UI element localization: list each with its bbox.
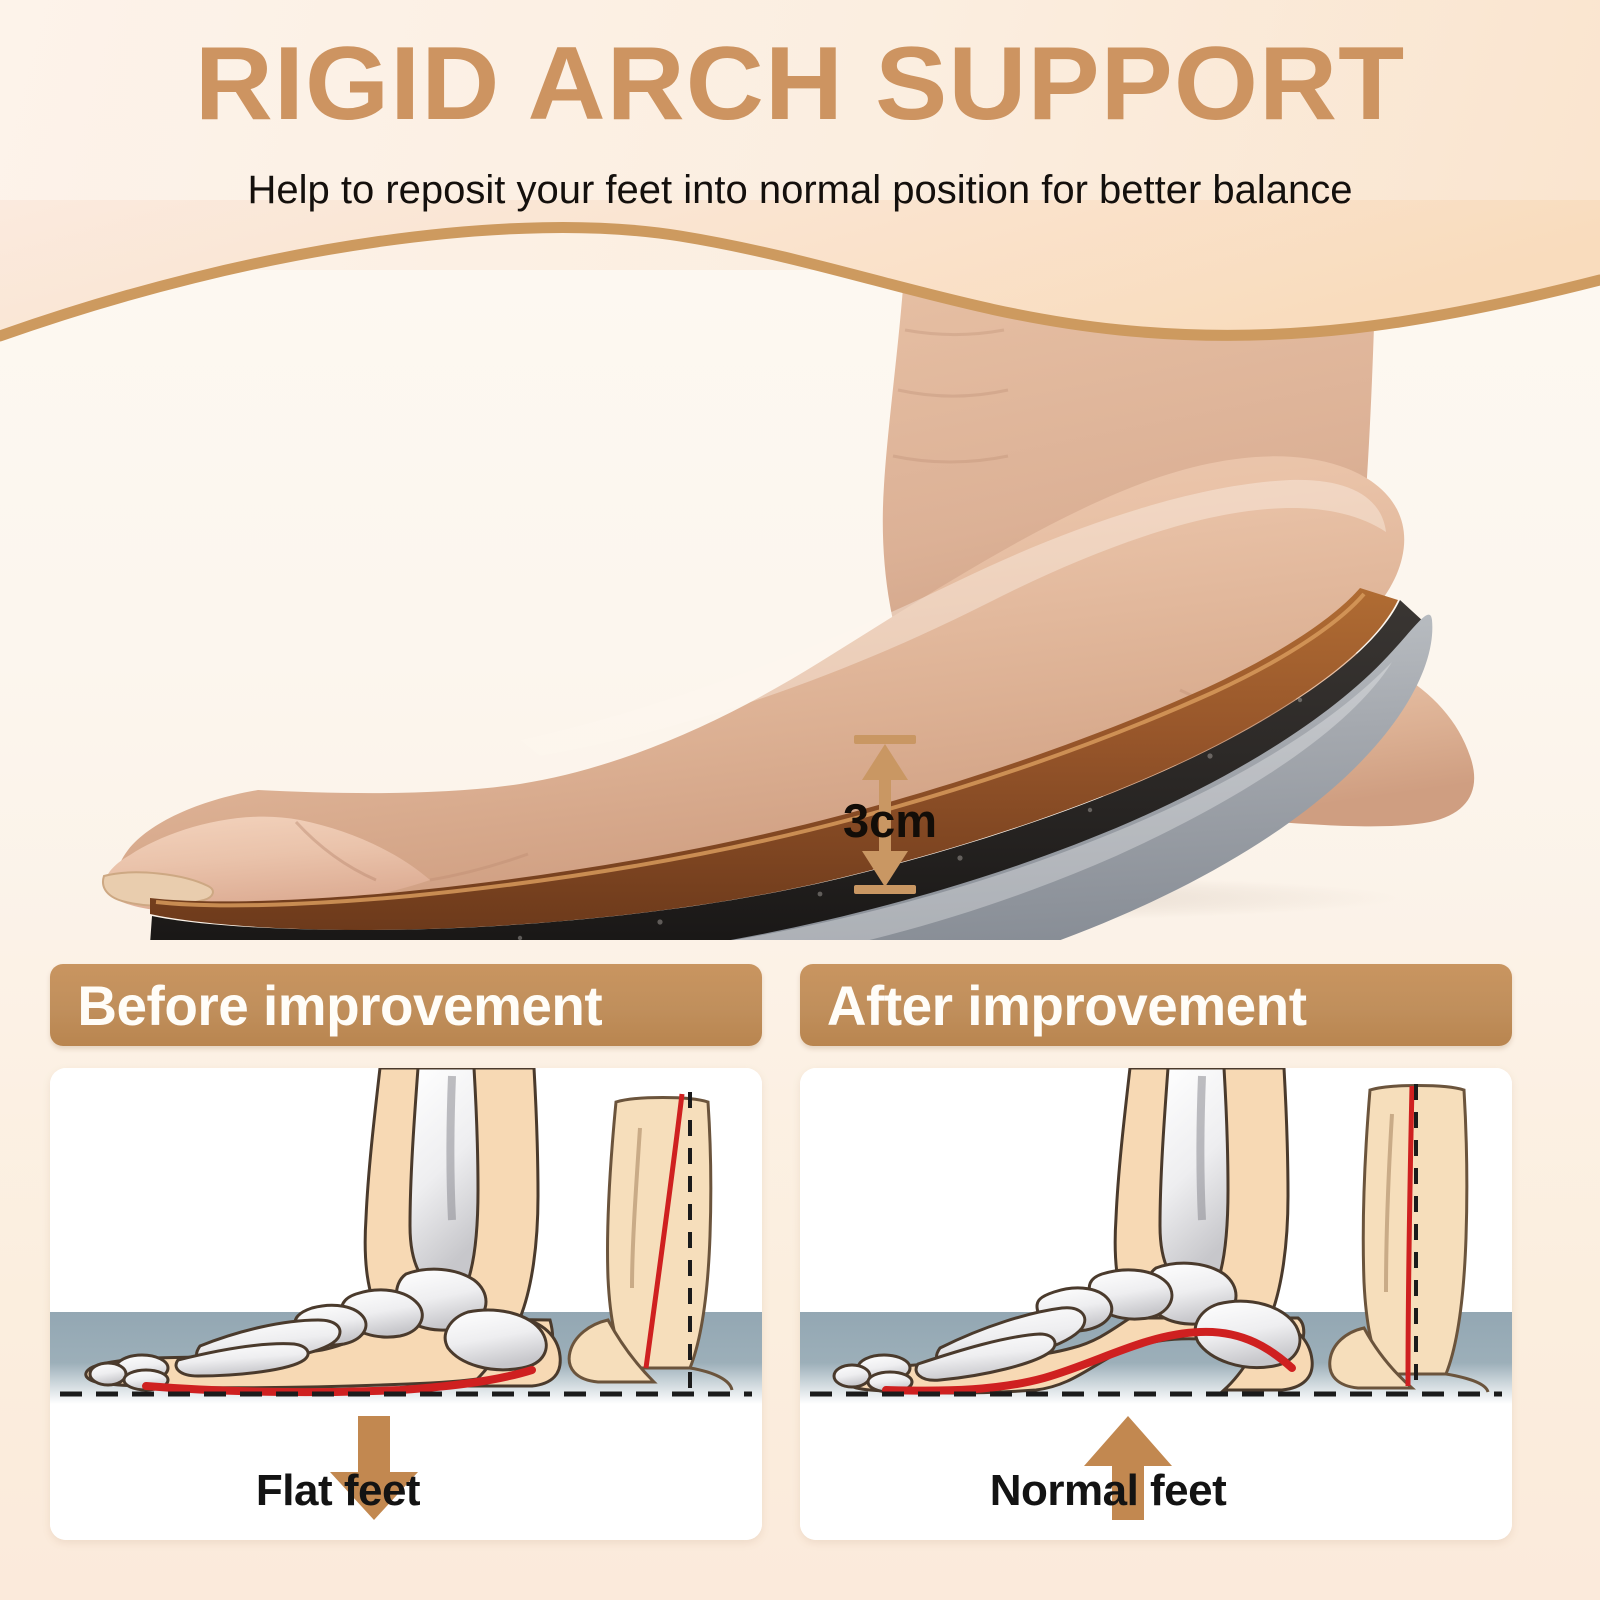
measurement-label: 3cm [838, 793, 988, 848]
flat-feet-caption: Flat feet [50, 1466, 694, 1516]
page-title: RIGID ARCH SUPPORT [0, 30, 1600, 139]
flat-feet-diagram-card: Flat feet [50, 1068, 762, 1540]
before-improvement-badge: Before improvement [50, 964, 762, 1046]
comparison-panel-after: After improvement [800, 964, 1512, 1540]
page-subtitle: Help to reposit your feet into normal po… [0, 168, 1600, 213]
after-improvement-badge: After improvement [800, 964, 1512, 1046]
foot-on-insole-illustration [0, 270, 1600, 950]
header: RIGID ARCH SUPPORT Help to reposit your … [0, 0, 1600, 300]
hero-photo [0, 270, 1600, 950]
arch-height-measurement: 3cm [838, 735, 948, 895]
normal-feet-diagram-card: Normal feet [800, 1068, 1512, 1540]
comparison-section: Before improvement [0, 940, 1600, 1600]
before-improvement-label: Before improvement [77, 973, 602, 1038]
after-improvement-label: After improvement [827, 973, 1307, 1038]
normal-feet-caption: Normal feet [800, 1466, 1464, 1516]
comparison-panel-before: Before improvement [50, 964, 762, 1540]
promo-page: RIGID ARCH SUPPORT Help to reposit your … [0, 0, 1600, 1600]
